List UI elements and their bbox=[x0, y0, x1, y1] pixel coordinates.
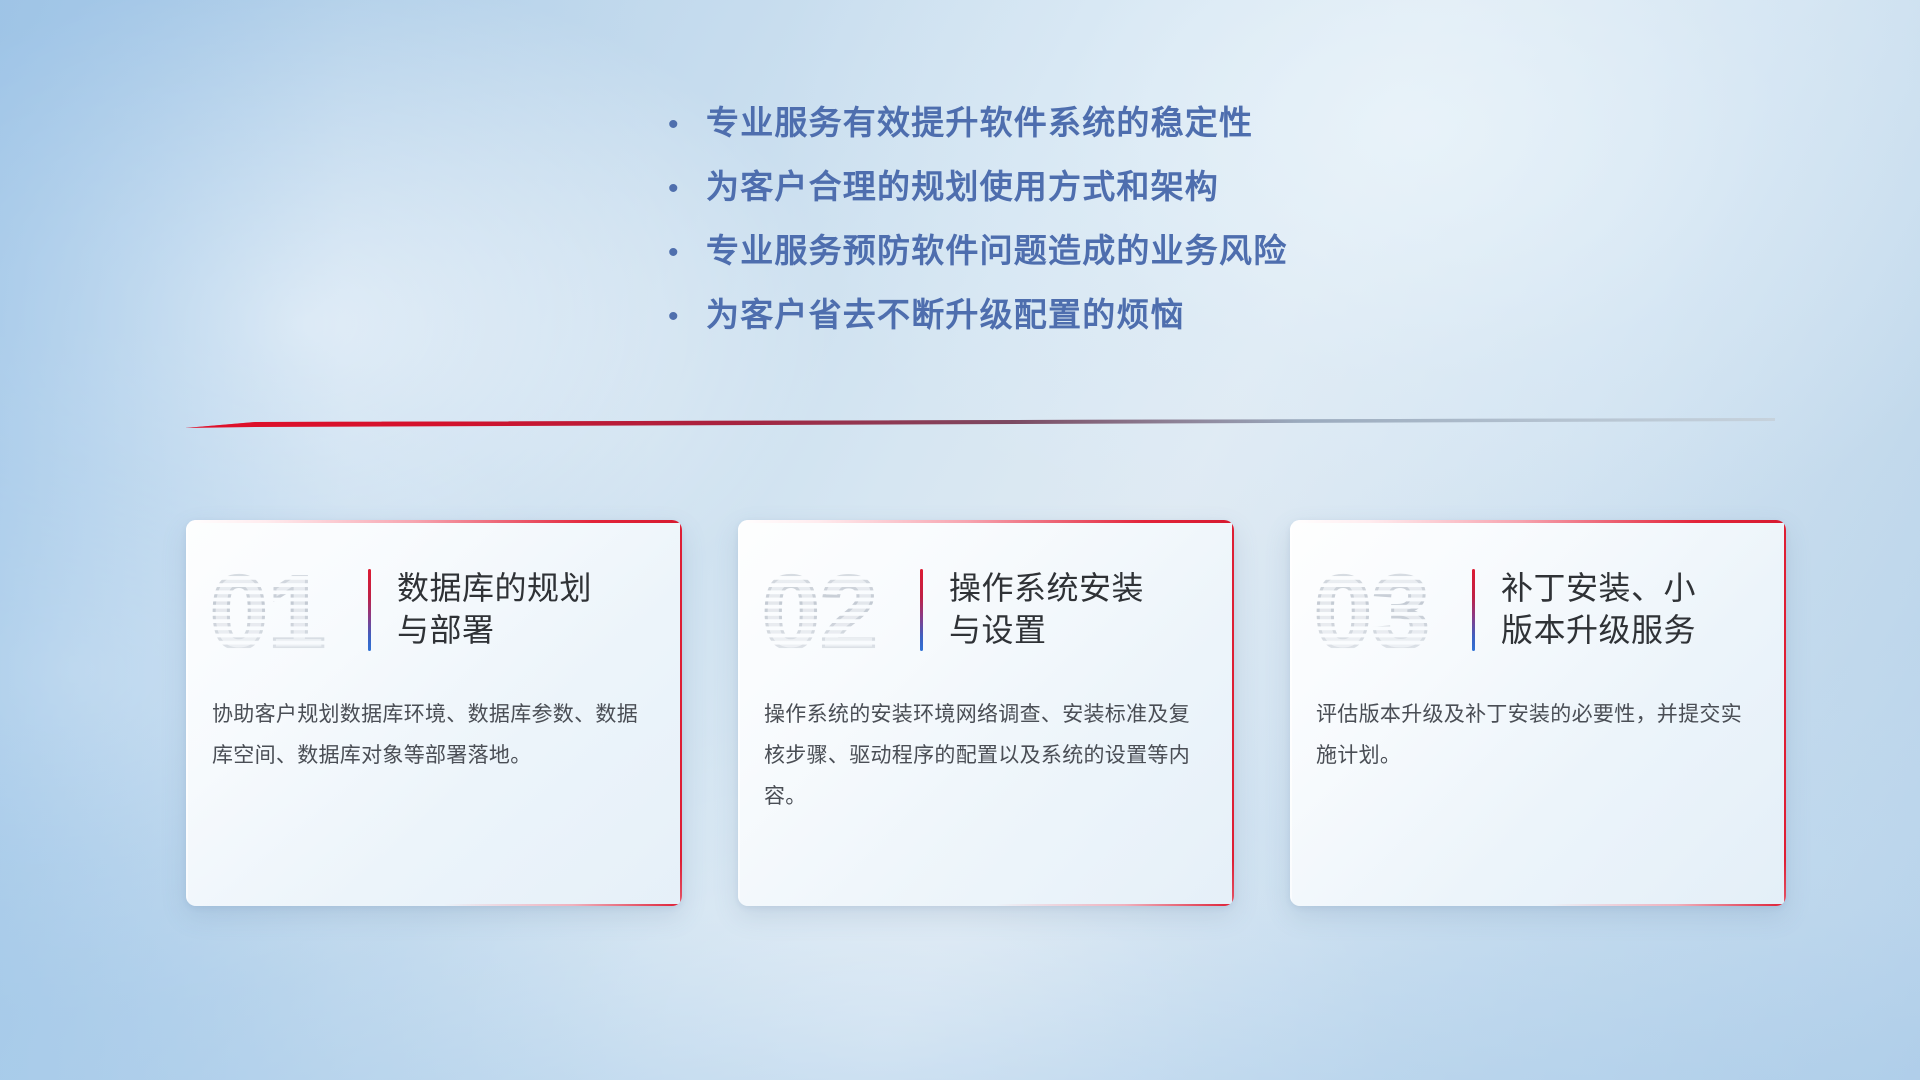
service-card[interactable]: 01 01 数据库的规划 与部署 协助客户规划数据库环境、数据库参数、数据库空间… bbox=[186, 520, 682, 906]
service-card-row: 01 01 数据库的规划 与部署 协助客户规划数据库环境、数据库参数、数据库空间… bbox=[186, 520, 1786, 906]
bullet-dot-icon: • bbox=[660, 302, 706, 332]
bullet-dot-icon: • bbox=[660, 110, 706, 140]
card-number-watermark: 01 01 bbox=[208, 551, 358, 669]
bullet-item: • 为客户合理的规划使用方式和架构 bbox=[660, 168, 1560, 206]
card-title: 补丁安装、小 版本升级服务 bbox=[1501, 568, 1696, 651]
card-header: 03 03 补丁安装、小 版本升级服务 bbox=[1290, 520, 1786, 670]
service-card[interactable]: 03 03 补丁安装、小 版本升级服务 评估版本升级及补丁安装的必要性，并提交实… bbox=[1290, 520, 1786, 906]
card-title: 操作系统安装 与设置 bbox=[949, 568, 1144, 651]
card-title-line: 与设置 bbox=[949, 610, 1144, 652]
card-header: 01 01 数据库的规划 与部署 bbox=[186, 520, 682, 670]
card-body-text: 评估版本升级及补丁安装的必要性，并提交实施计划。 bbox=[1290, 670, 1786, 776]
card-body-text: 操作系统的安装环境网络调查、安装标准及复核步骤、驱动程序的配置以及系统的设置等内… bbox=[738, 670, 1234, 817]
bullet-text: 为客户合理的规划使用方式和架构 bbox=[706, 168, 1219, 206]
card-header: 02 02 操作系统安装 与设置 bbox=[738, 520, 1234, 670]
card-accent-bar bbox=[1472, 569, 1475, 651]
card-body-text: 协助客户规划数据库环境、数据库参数、数据库空间、数据库对象等部署落地。 bbox=[186, 670, 682, 776]
card-title-line: 补丁安装、小 bbox=[1501, 568, 1696, 610]
card-bottom-edge bbox=[738, 904, 1234, 907]
svg-text:02: 02 bbox=[762, 555, 878, 669]
card-bottom-edge bbox=[186, 904, 682, 907]
service-card[interactable]: 02 02 操作系统安装 与设置 操作系统的安装环境网络调查、安装标准及复核步骤… bbox=[738, 520, 1234, 906]
bullet-item: • 专业服务有效提升软件系统的稳定性 bbox=[660, 104, 1560, 142]
svg-text:03: 03 bbox=[1314, 555, 1430, 669]
card-title-line: 与部署 bbox=[397, 610, 592, 652]
bullet-text: 专业服务有效提升软件系统的稳定性 bbox=[706, 104, 1253, 142]
card-title: 数据库的规划 与部署 bbox=[397, 568, 592, 651]
slide-canvas: • 专业服务有效提升软件系统的稳定性 • 为客户合理的规划使用方式和架构 • 专… bbox=[0, 0, 1920, 1080]
section-divider bbox=[185, 418, 1775, 434]
bullet-dot-icon: • bbox=[660, 238, 706, 268]
card-title-line: 操作系统安装 bbox=[949, 568, 1144, 610]
bullet-text: 专业服务预防软件问题造成的业务风险 bbox=[706, 232, 1287, 270]
card-number-watermark: 02 02 bbox=[760, 551, 910, 669]
card-accent-bar bbox=[920, 569, 923, 651]
card-title-line: 数据库的规划 bbox=[397, 568, 592, 610]
card-number-watermark: 03 03 bbox=[1312, 551, 1462, 669]
bullet-item: • 为客户省去不断升级配置的烦恼 bbox=[660, 296, 1560, 334]
bullet-text: 为客户省去不断升级配置的烦恼 bbox=[706, 296, 1185, 334]
bullet-item: • 专业服务预防软件问题造成的业务风险 bbox=[660, 232, 1560, 270]
card-bottom-edge bbox=[1290, 904, 1786, 907]
benefit-bullet-list: • 专业服务有效提升软件系统的稳定性 • 为客户合理的规划使用方式和架构 • 专… bbox=[660, 104, 1560, 360]
card-accent-bar bbox=[368, 569, 371, 651]
bullet-dot-icon: • bbox=[660, 174, 706, 204]
card-title-line: 版本升级服务 bbox=[1501, 610, 1696, 652]
svg-text:01: 01 bbox=[210, 555, 326, 669]
